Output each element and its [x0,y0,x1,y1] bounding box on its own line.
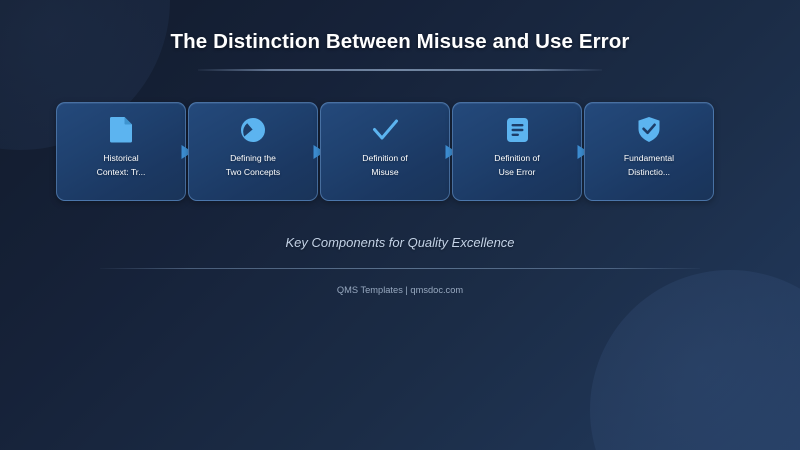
flow-step-card-5[interactable]: Fundamental Distinctio... [584,102,714,201]
flow-step-card-4[interactable]: Definition of Use Error [452,102,582,201]
footer-divider [100,268,700,269]
flow-step-label-3-line1: Definition of [362,153,407,163]
flow-step-label-5-line2: Distinctio... [628,167,670,177]
pie-chart-icon [240,116,267,143]
flow-step-card-3[interactable]: Definition of Misuse [320,102,450,201]
flow-step-label-2-line1: Defining the [230,153,276,163]
flow-step-label-4: Definition of Use Error [461,152,573,179]
slide-subtitle: Key Components for Quality Excellence [0,235,800,250]
document-icon [108,116,135,143]
shield-check-icon [636,116,663,143]
flow-step-label-1-line2: Context: Tr... [97,167,146,177]
slide-canvas: The Distinction Between Misuse and Use E… [0,0,800,450]
check-icon [372,116,399,143]
flow-step-label-5-line1: Fundamental [624,153,674,163]
title-divider [198,69,602,71]
slide-title: The Distinction Between Misuse and Use E… [0,30,800,54]
flow-step-label-1-line1: Historical [103,153,138,163]
flow-step-label-1: Historical Context: Tr... [65,152,177,179]
process-flow: Historical Context: Tr... Defining the T… [56,102,714,201]
decorative-circle-bottom-right [590,270,800,450]
flow-step-label-2: Defining the Two Concepts [197,152,309,179]
flow-step-label-3: Definition of Misuse [329,152,441,179]
flow-step-label-5: Fundamental Distinctio... [593,152,705,179]
text-lines-icon [504,116,531,143]
flow-step-card-1[interactable]: Historical Context: Tr... [56,102,186,201]
slide-footer: QMS Templates | qmsdoc.com [0,285,800,295]
flow-step-label-3-line2: Misuse [371,167,398,177]
flow-step-label-4-line2: Use Error [499,167,536,177]
flow-step-card-2[interactable]: Defining the Two Concepts [188,102,318,201]
flow-step-label-4-line1: Definition of [494,153,539,163]
flow-step-label-2-line2: Two Concepts [226,167,280,177]
